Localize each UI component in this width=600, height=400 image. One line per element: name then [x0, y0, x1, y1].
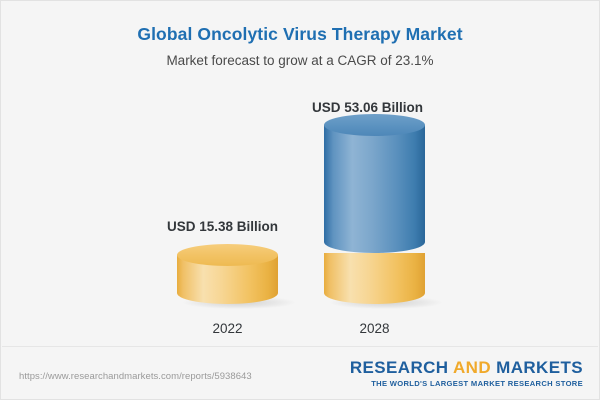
chart-plot-area: USD 15.38 Billion 2022 USD 53.06 Billion…: [1, 81, 599, 343]
cylinder-body-2028: [324, 125, 425, 253]
logo-word-and: AND: [453, 358, 491, 377]
cylinder-top-2022: [177, 244, 278, 266]
bar-value-2028: USD 53.06 Billion: [312, 100, 423, 115]
footer-divider: [2, 346, 598, 347]
logo-word-research: RESEARCH: [350, 358, 449, 377]
axis-label-2028: 2028: [324, 321, 425, 336]
bar-group-2028: [324, 114, 425, 304]
cylinder-top-2028: [324, 114, 425, 136]
cylinder-base-2028: [324, 253, 425, 304]
research-and-markets-logo[interactable]: RESEARCH AND MARKETS THE WORLD'S LARGEST…: [350, 359, 583, 388]
logo-tagline: THE WORLD'S LARGEST MARKET RESEARCH STOR…: [350, 379, 583, 388]
bar-group-2022: [177, 234, 278, 304]
market-forecast-infographic: Global Oncolytic Virus Therapy Market Ma…: [0, 0, 600, 400]
bar-value-2022: USD 15.38 Billion: [167, 219, 278, 234]
cylinder-2028[interactable]: [324, 114, 425, 304]
axis-label-2022: 2022: [177, 321, 278, 336]
report-url-link[interactable]: https://www.researchandmarkets.com/repor…: [19, 371, 252, 382]
cylinder-2022[interactable]: [177, 244, 278, 304]
logo-wordmark: RESEARCH AND MARKETS: [350, 359, 583, 377]
page-title: Global Oncolytic Virus Therapy Market: [1, 24, 599, 45]
logo-word-markets: MARKETS: [496, 358, 583, 377]
chart-subtitle: Market forecast to grow at a CAGR of 23.…: [1, 53, 599, 68]
